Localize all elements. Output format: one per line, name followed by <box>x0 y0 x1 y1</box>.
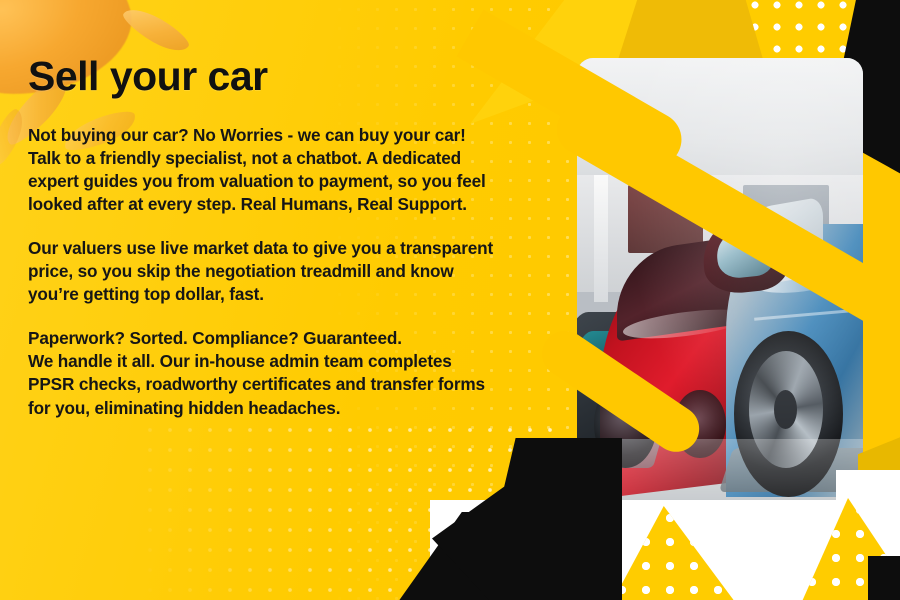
photo-pillar <box>594 175 608 302</box>
paragraph-paperwork: Paperwork? Sorted. Compliance? Guarantee… <box>28 327 558 419</box>
black-corner-bottom-right <box>868 556 900 600</box>
page-title: Sell your car <box>28 55 558 98</box>
paragraph-line: Our valuers use live market data to give… <box>28 237 558 260</box>
paragraph-line: Not buying our car? No Worries - we can … <box>28 124 558 147</box>
paragraph-valuation: Our valuers use live market data to give… <box>28 237 558 306</box>
paragraph-line: looked after at every step. Real Humans,… <box>28 193 558 216</box>
paragraph-line: expert guides you from valuation to paym… <box>28 170 558 193</box>
paragraph-line: We handle it all. Our in-house admin tea… <box>28 350 558 373</box>
paragraph-line: you’re getting top dollar, fast. <box>28 283 558 306</box>
paragraph-intro: Not buying our car? No Worries - we can … <box>28 124 558 216</box>
paragraph-line: Paperwork? Sorted. Compliance? Guarantee… <box>28 327 558 350</box>
paragraph-line: price, so you skip the negotiation tread… <box>28 260 558 283</box>
text-content: Sell your car Not buying our car? No Wor… <box>28 55 558 420</box>
paragraph-line: for you, eliminating hidden headaches. <box>28 397 558 420</box>
paragraph-line: Talk to a friendly specialist, not a cha… <box>28 147 558 170</box>
paragraph-line: PPSR checks, roadworthy certificates and… <box>28 373 558 396</box>
poster-canvas: Sell your car Not buying our car? No Wor… <box>0 0 900 600</box>
photo-wheel-hub <box>774 390 797 429</box>
